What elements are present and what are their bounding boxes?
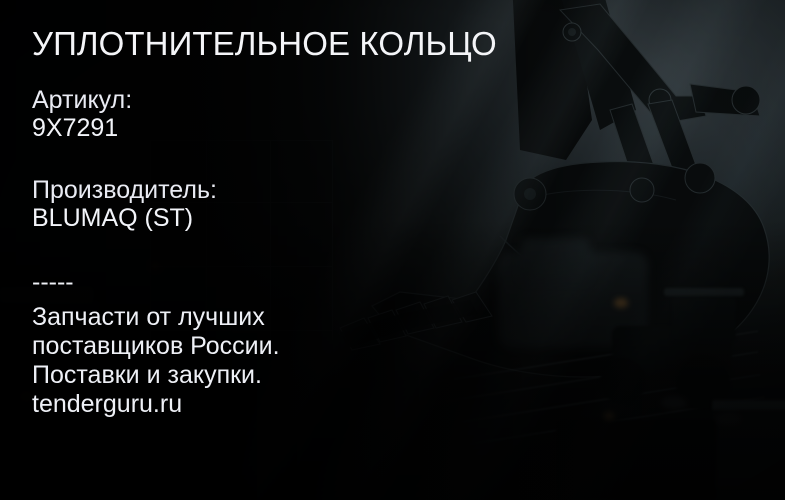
product-banner-card: УПЛОТНИТЕЛЬНОЕ КОЛЬЦО Артикул: 9X7291 Пр… — [0, 0, 785, 500]
site-link[interactable]: tenderguru.ru — [32, 390, 280, 419]
article-value: 9X7291 — [32, 114, 118, 143]
product-title: УПЛОТНИТЕЛЬНОЕ КОЛЬЦО — [32, 24, 497, 64]
article-label: Артикул: — [32, 86, 132, 115]
promo-line-3: Поставки и закупки. — [32, 361, 280, 390]
promo-block: Запчасти от лучших поставщиков России. П… — [32, 303, 280, 419]
card-content: УПЛОТНИТЕЛЬНОЕ КОЛЬЦО Артикул: 9X7291 Пр… — [32, 0, 592, 500]
divider-dashes: ----- — [32, 268, 74, 297]
promo-line-2: поставщиков России. — [32, 332, 280, 361]
manufacturer-label: Производитель: — [32, 176, 217, 205]
manufacturer-value: BLUMAQ (ST) — [32, 204, 193, 233]
promo-line-1: Запчасти от лучших — [32, 303, 280, 332]
